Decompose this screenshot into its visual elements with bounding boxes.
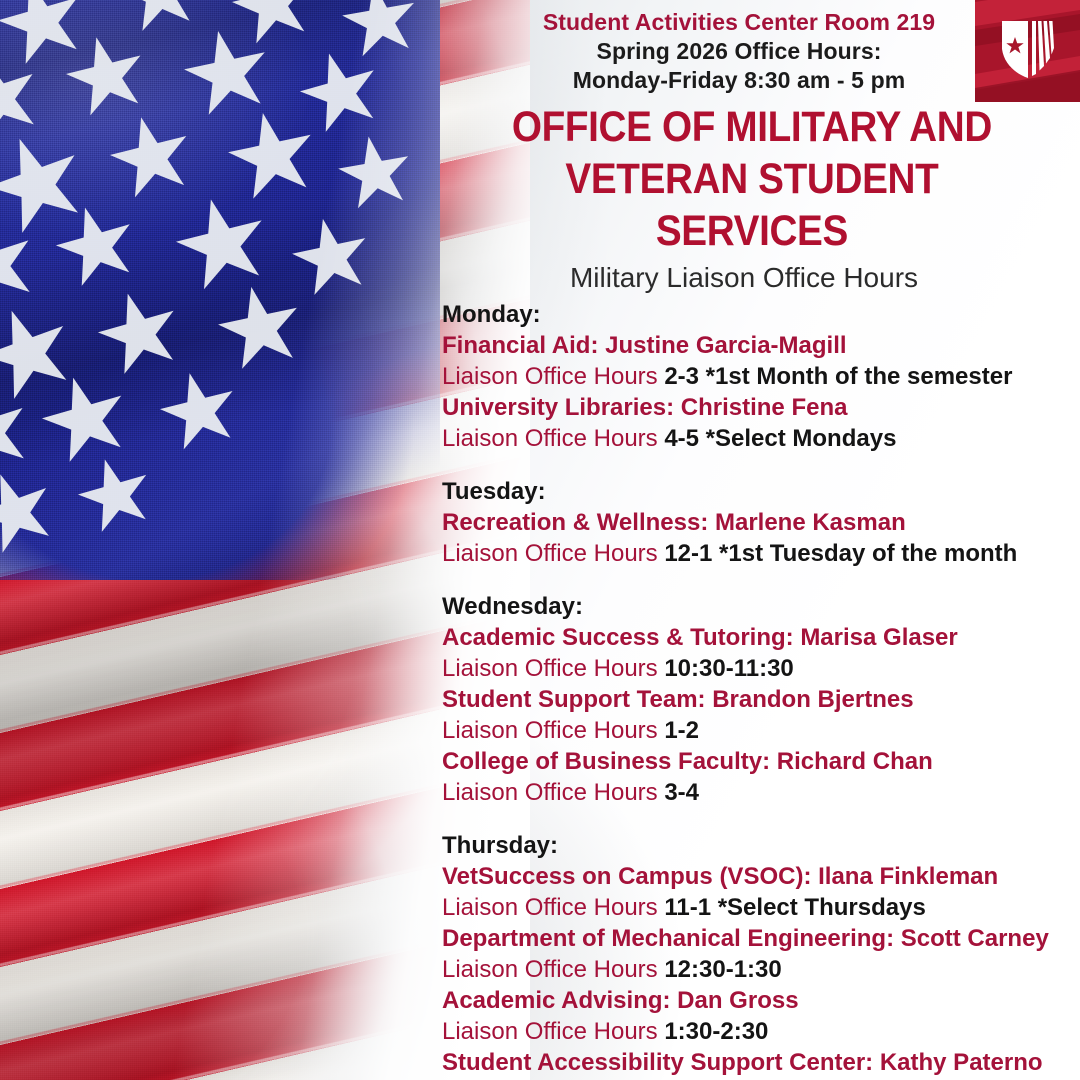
- liaison-entry-hours: Liaison Office Hours 3-4: [442, 777, 1080, 808]
- page-title-line-1: OFFICE OF MILITARY AND: [472, 101, 1032, 153]
- day-name: Monday:: [442, 299, 1080, 330]
- hours-time: 3-4: [664, 779, 699, 806]
- liaison-schedule: Monday:Financial Aid: Justine Garcia-Mag…: [440, 299, 1080, 1080]
- liaison-entry-hours: Liaison Office Hours 1:30-2:30: [442, 1016, 1080, 1047]
- liaison-entry-title: Academic Success & Tutoring: Marisa Glas…: [442, 622, 1080, 653]
- liaison-entry-hours: Liaison Office Hours 11-1 *Select Thursd…: [442, 892, 1080, 923]
- page-title-line-2: VETERAN STUDENT SERVICES: [472, 153, 1032, 257]
- poster-content: Student Activities Center Room 219 Sprin…: [440, 0, 1080, 1080]
- hours-label: Liaison Office Hours: [442, 363, 664, 390]
- header-term: Spring 2026 Office Hours:: [450, 37, 1028, 66]
- hours-time: 10:30-11:30: [664, 655, 793, 682]
- hours-time: 2-3 *1st Month of the semester: [664, 363, 1012, 390]
- liaison-entry-title: Student Accessibility Support Center: Ka…: [442, 1047, 1080, 1078]
- liaison-entry-hours: Liaison Office Hours 2-3 *1st Month of t…: [442, 361, 1080, 392]
- hours-label: Liaison Office Hours: [442, 779, 664, 806]
- day-block: Tuesday:Recreation & Wellness: Marlene K…: [442, 476, 1080, 569]
- page-subtitle: Military Liaison Office Hours: [440, 259, 1080, 297]
- liaison-entry-title: College of Business Faculty: Richard Cha…: [442, 746, 1080, 777]
- header-location: Student Activities Center Room 219: [450, 8, 1028, 37]
- day-block: Wednesday:Academic Success & Tutoring: M…: [442, 591, 1080, 808]
- liaison-entry-title: VetSuccess on Campus (VSOC): Ilana Finkl…: [442, 861, 1080, 892]
- liaison-entry-hours: Liaison Office Hours 10:30-11:30: [442, 653, 1080, 684]
- hours-label: Liaison Office Hours: [442, 717, 664, 744]
- liaison-entry-title: University Libraries: Christine Fena: [442, 392, 1080, 423]
- liaison-entry-hours: Liaison Office Hours 1-2: [442, 715, 1080, 746]
- hours-time: 1:30-2:30: [664, 1018, 768, 1045]
- hours-label: Liaison Office Hours: [442, 425, 664, 452]
- day-name: Thursday:: [442, 830, 1080, 861]
- hours-label: Liaison Office Hours: [442, 894, 664, 921]
- liaison-entry-title: Academic Advising: Dan Gross: [442, 985, 1080, 1016]
- hours-label: Liaison Office Hours: [442, 540, 664, 567]
- office-hours-poster: Student Activities Center Room 219 Sprin…: [0, 0, 1080, 1080]
- liaison-entry-title: Financial Aid: Justine Garcia-Magill: [442, 330, 1080, 361]
- day-name: Wednesday:: [442, 591, 1080, 622]
- hours-time: 1-2: [664, 717, 699, 744]
- liaison-entry-hours: Liaison Office Hours 4-5 *Select Mondays: [442, 423, 1080, 454]
- liaison-entry-hours: Liaison Office Hours 12-1 *1st Tuesday o…: [442, 538, 1080, 569]
- day-block: Thursday:VetSuccess on Campus (VSOC): Il…: [442, 830, 1080, 1080]
- hours-label: Liaison Office Hours: [442, 956, 664, 983]
- hours-time: 12:30-1:30: [664, 956, 781, 983]
- hours-label: Liaison Office Hours: [442, 1018, 664, 1045]
- hours-time: 4-5 *Select Mondays: [664, 425, 896, 452]
- page-title: OFFICE OF MILITARY AND VETERAN STUDENT S…: [472, 101, 1048, 257]
- liaison-entry-title: Student Support Team: Brandon Bjertnes: [442, 684, 1080, 715]
- header-block: Student Activities Center Room 219 Sprin…: [440, 0, 1080, 95]
- hours-time: 12-1 *1st Tuesday of the month: [664, 540, 1017, 567]
- hours-time: 11-1 *Select Thursdays: [664, 894, 925, 921]
- day-block: Monday:Financial Aid: Justine Garcia-Mag…: [442, 299, 1080, 454]
- liaison-entry-title: Recreation & Wellness: Marlene Kasman: [442, 507, 1080, 538]
- header-weekly-hours: Monday-Friday 8:30 am - 5 pm: [450, 66, 1028, 95]
- day-name: Tuesday:: [442, 476, 1080, 507]
- liaison-entry-hours: Liaison Office Hours 12:30-1:30: [442, 954, 1080, 985]
- liaison-entry-title: Department of Mechanical Engineering: Sc…: [442, 923, 1080, 954]
- hours-label: Liaison Office Hours: [442, 655, 664, 682]
